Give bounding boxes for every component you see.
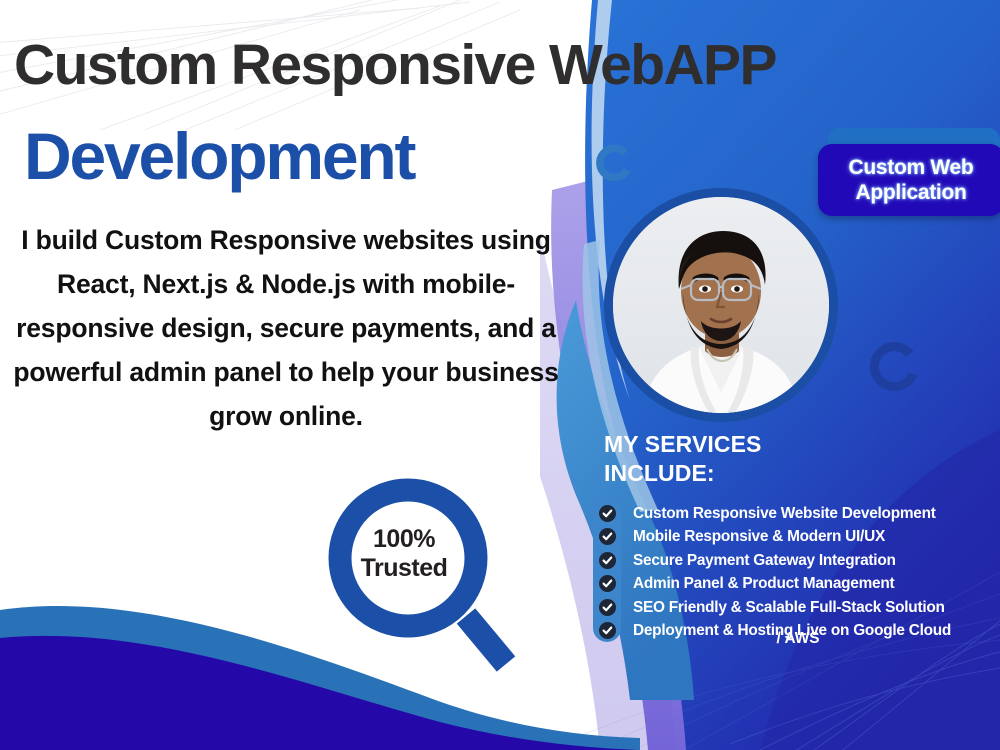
list-item-label: SEO Friendly & Scalable Full-Stack Solut… [633,597,945,618]
headline-line-2: Development [24,120,414,192]
list-item: Secure Payment Gateway Integration [598,550,998,573]
portrait-illustration [613,197,829,413]
check-icon [599,505,616,522]
arc-decoration-icon [866,340,924,398]
services-title-line-1: MY SERVICES [604,430,934,459]
trusted-badge-label: 100% Trusted [344,525,464,583]
list-item-label: Custom Responsive Website Development [633,503,936,524]
poster-canvas: Custom Responsive WebAPP Development I b… [0,0,1000,750]
list-item-label: Admin Panel & Product Management [633,573,894,594]
list-item: Admin Panel & Product Management [598,573,998,596]
bottom-wave-decoration [0,580,640,750]
services-title-line-2: INCLUDE: [604,459,934,488]
list-item: Mobile Responsive & Modern UI/UX [598,526,998,549]
services-list: Custom Responsive Website Development Mo… [598,503,998,643]
list-item-label-continuation: / AWS [598,628,998,649]
trusted-word: Trusted [344,554,464,583]
badge-text: Custom Web Application [818,144,1000,216]
list-item: Custom Responsive Website Development [598,503,998,526]
list-item-label: Mobile Responsive & Modern UI/UX [633,526,885,547]
arc-decoration-icon [592,142,636,188]
headline-line-1: Custom Responsive WebAPP [14,34,989,96]
trusted-percent: 100% [344,525,464,554]
list-item: SEO Friendly & Scalable Full-Stack Solut… [598,597,998,620]
badge-line-2: Application [855,180,966,205]
portrait-photo [604,188,838,422]
badge-line-1: Custom Web [849,155,974,180]
check-icon [599,552,616,569]
services-title: MY SERVICES INCLUDE: [604,430,934,488]
check-icon [599,528,616,545]
intro-paragraph: I build Custom Responsive websites using… [8,218,564,438]
custom-web-application-badge[interactable]: Custom Web Application [818,128,1000,220]
list-item-label: Secure Payment Gateway Integration [633,550,896,571]
